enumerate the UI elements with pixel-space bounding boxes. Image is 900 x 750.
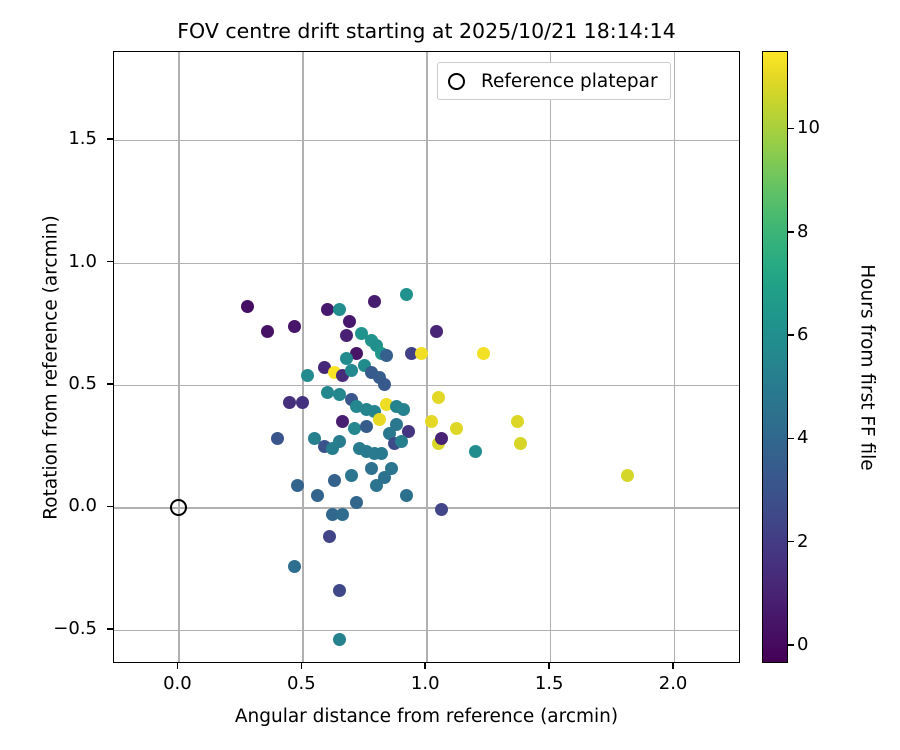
data-point <box>333 303 346 316</box>
data-point <box>333 435 346 448</box>
data-point <box>621 469 634 482</box>
reference-platepar-marker <box>170 499 187 516</box>
data-point <box>296 396 309 409</box>
x-tick-label-3: 1.5 <box>514 673 584 694</box>
data-point <box>343 315 356 328</box>
data-point <box>261 325 274 338</box>
colorbar-tick-mark-5 <box>788 128 794 130</box>
data-point <box>283 396 296 409</box>
data-point <box>333 584 346 597</box>
colorbar-tick-mark-3 <box>788 334 794 336</box>
data-point <box>291 479 304 492</box>
gridline-vertical-1 <box>302 52 303 662</box>
data-point <box>368 295 381 308</box>
colorbar-tick-mark-1 <box>788 541 794 543</box>
y-tick-mark-0 <box>107 628 113 630</box>
data-point <box>360 420 373 433</box>
data-point <box>400 288 413 301</box>
data-point <box>375 447 388 460</box>
data-point <box>385 462 398 475</box>
data-point <box>395 435 408 448</box>
chart-title: FOV centre drift starting at 2025/10/21 … <box>113 18 740 44</box>
colorbar-tick-label-4: 8 <box>797 223 808 241</box>
data-point <box>345 364 358 377</box>
data-point <box>336 508 349 521</box>
gridline-vertical-3 <box>550 52 551 662</box>
scatter-figure: FOV centre drift starting at 2025/10/21 … <box>0 0 900 750</box>
x-tick-label-0: 0.0 <box>142 673 212 694</box>
x-tick-mark-3 <box>548 663 550 669</box>
data-point <box>340 352 353 365</box>
data-point <box>323 530 336 543</box>
data-point <box>400 489 413 502</box>
colorbar-tick-mark-2 <box>788 438 794 440</box>
data-point <box>373 413 386 426</box>
data-point <box>425 415 438 428</box>
gridline-horizontal-0 <box>114 630 739 631</box>
y-tick-mark-4 <box>107 138 113 140</box>
x-tick-mark-4 <box>672 663 674 669</box>
colorbar-gradient <box>763 52 787 662</box>
gridline-vertical-0 <box>178 52 179 662</box>
data-point <box>345 469 358 482</box>
y-axis-label: Rotation from reference (arcmin) <box>41 62 62 674</box>
gridline-horizontal-3 <box>114 263 739 264</box>
data-point <box>380 349 393 362</box>
y-tick-mark-2 <box>107 383 113 385</box>
y-tick-mark-3 <box>107 261 113 263</box>
x-tick-label-1: 0.5 <box>266 673 336 694</box>
gridline-horizontal-4 <box>114 140 739 141</box>
data-point <box>415 347 428 360</box>
data-point <box>514 437 527 450</box>
gridline-vertical-4 <box>674 52 675 662</box>
data-point <box>333 633 346 646</box>
data-point <box>321 303 334 316</box>
data-point <box>435 432 448 445</box>
gridline-horizontal-1 <box>114 507 739 508</box>
colorbar-tick-label-3: 6 <box>797 326 808 344</box>
data-point <box>397 403 410 416</box>
data-point <box>477 347 490 360</box>
data-point <box>336 415 349 428</box>
data-point <box>469 445 482 458</box>
colorbar-tick-label-5: 10 <box>797 119 820 137</box>
data-point <box>365 462 378 475</box>
data-point <box>511 415 524 428</box>
data-point <box>450 422 463 435</box>
data-point <box>328 474 341 487</box>
plot-area <box>113 51 740 663</box>
data-point <box>435 503 448 516</box>
x-tick-mark-0 <box>177 663 179 669</box>
data-point <box>340 329 353 342</box>
colorbar <box>762 51 788 663</box>
colorbar-label: Hours from first FF file <box>857 62 878 674</box>
colorbar-tick-label-0: 0 <box>797 636 808 654</box>
gridline-horizontal-2 <box>114 385 739 386</box>
legend-entry-label: Reference platepar <box>481 71 658 92</box>
data-point <box>378 378 391 391</box>
colorbar-tick-label-1: 2 <box>797 533 808 551</box>
x-tick-mark-1 <box>301 663 303 669</box>
colorbar-tick-mark-4 <box>788 231 794 233</box>
data-point <box>311 489 324 502</box>
legend-open-circle-icon <box>448 73 465 90</box>
x-axis-label: Angular distance from reference (arcmin) <box>113 706 740 727</box>
x-tick-mark-2 <box>424 663 426 669</box>
colorbar-tick-label-2: 4 <box>797 429 808 447</box>
x-tick-label-2: 1.0 <box>390 673 460 694</box>
data-point <box>301 369 314 382</box>
x-tick-label-4: 2.0 <box>638 673 708 694</box>
legend: Reference platepar <box>437 62 671 100</box>
data-point <box>390 418 403 431</box>
data-point <box>333 388 346 401</box>
data-point <box>348 422 361 435</box>
data-point <box>430 325 443 338</box>
data-point <box>288 320 301 333</box>
data-point <box>271 432 284 445</box>
colorbar-tick-mark-0 <box>788 644 794 646</box>
data-point <box>288 560 301 573</box>
data-point <box>241 300 254 313</box>
data-point <box>432 391 445 404</box>
data-point <box>321 386 334 399</box>
y-tick-mark-1 <box>107 506 113 508</box>
